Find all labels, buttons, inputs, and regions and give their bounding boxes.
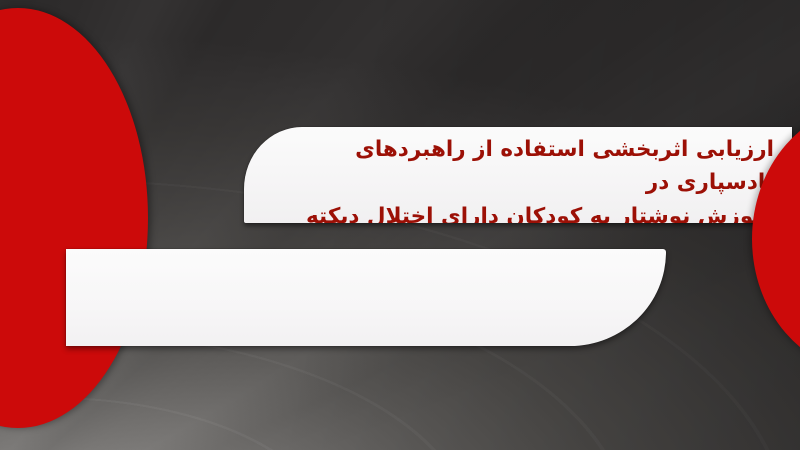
title-plate: ارزیابی اثربخشی استفاده از راهبردهای یاد… xyxy=(244,127,792,223)
page-title: ارزیابی اثربخشی استفاده از راهبردهای یاد… xyxy=(296,133,774,223)
subtitle-text xyxy=(88,259,644,336)
presentation-slide: ارزیابی اثربخشی استفاده از راهبردهای یاد… xyxy=(0,0,800,450)
content-plate xyxy=(66,249,666,346)
